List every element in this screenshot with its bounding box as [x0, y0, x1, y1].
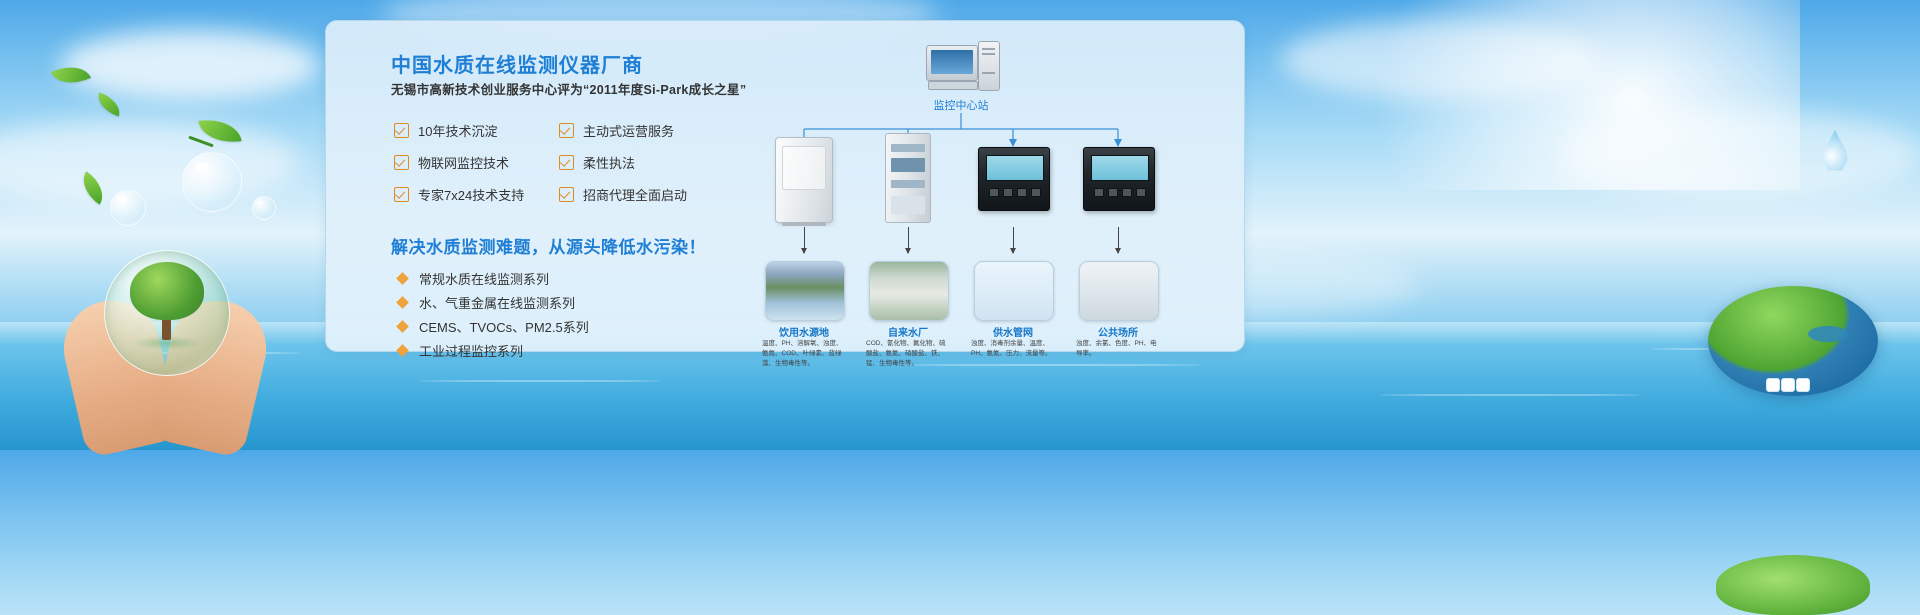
leaf-1	[51, 58, 91, 92]
checklist-item: 物联网监控技术	[394, 149, 524, 175]
scene-caption: 公共场所	[1073, 324, 1163, 339]
scene-photo-pipeline	[974, 261, 1054, 321]
list-item: 常规水质在线监测系列	[398, 266, 589, 290]
bubble-2	[110, 190, 146, 226]
scene-photo-public	[1079, 261, 1159, 321]
checkbox-checked-icon	[559, 187, 574, 202]
checklist-label: 10年技术沉淀	[418, 121, 497, 140]
checkbox-checked-icon	[394, 123, 409, 138]
device-controller-a	[976, 131, 1050, 223]
monitoring-center-label: 监控中心站	[901, 97, 1021, 113]
list-item: CEMS、TVOCs、PM2.5系列	[398, 314, 589, 338]
arrow-down-icon	[908, 227, 909, 253]
cabinet-icon	[775, 137, 833, 223]
cloud-2	[0, 120, 300, 205]
cloud-3	[1280, 20, 1600, 100]
leaf-2	[94, 92, 124, 116]
arrow-down-icon	[1118, 227, 1119, 253]
checklist-label: 柔性执法	[583, 153, 635, 172]
eco-globe	[1708, 266, 1878, 396]
bubble-1	[182, 152, 242, 212]
scene-caption: 饮用水源地	[759, 324, 849, 339]
scene-description: 温度、PH、溶解氧、浊度、氨氮、COD、叶绿素、蓝绿藻、生物毒性等。	[762, 339, 846, 369]
content-panel: 中国水质在线监测仪器厂商 无锡市高新技术创业服务中心评为“2011年度Si-Pa…	[325, 20, 1245, 352]
globe-grass-cap	[1716, 555, 1870, 615]
list-item-label: 常规水质在线监测系列	[419, 269, 549, 288]
diamond-bullet-icon	[396, 320, 409, 333]
list-item-label: 水、气重金属在线监测系列	[419, 293, 575, 312]
checkbox-checked-icon	[394, 155, 409, 170]
scene-caption: 供水管网	[968, 324, 1058, 339]
system-topology-diagram: 监控中心站	[756, 35, 1226, 345]
cloud-4	[1560, 110, 1920, 200]
page-subtitle: 无锡市高新技术创业服务中心评为“2011年度Si-Park成长之星”	[391, 79, 746, 98]
arrow-down-icon	[804, 227, 805, 253]
test-strips-icon	[1766, 378, 1824, 392]
page-title: 中国水质在线监测仪器厂商	[391, 49, 643, 78]
device-water-cabinet	[767, 131, 841, 223]
checklist-label: 主动式运营服务	[583, 121, 674, 140]
bubble-3	[252, 196, 276, 220]
controller-icon	[978, 147, 1050, 211]
arrow-down-icon	[1013, 227, 1014, 253]
checklist-item: 主动式运营服务	[559, 117, 687, 143]
checklist-label: 招商代理全面启动	[583, 185, 687, 204]
monitoring-center-computer-icon	[926, 45, 998, 91]
leaf-stem	[188, 136, 213, 148]
rack-icon	[885, 133, 931, 223]
list-item: 工业过程监控系列	[398, 338, 589, 362]
checkbox-checked-icon	[559, 123, 574, 138]
controller-icon	[1083, 147, 1155, 211]
device-analyzer-rack	[871, 131, 945, 223]
scene-description: 浊度、余氯、色度、PH、电导率。	[1076, 339, 1160, 359]
cloud-1	[60, 30, 320, 100]
scene-description: COD、氰化物、氟化物、硫酸盐、氨氮、硝酸盐、铁、锰、生物毒性等。	[866, 339, 950, 369]
checklist-item: 10年技术沉淀	[394, 117, 524, 143]
checklist-item: 专家7x24技术支持	[394, 181, 524, 207]
list-item-label: CEMS、TVOCs、PM2.5系列	[419, 317, 589, 336]
water-droplet-icon	[1820, 130, 1850, 172]
scene-photo-reservoir	[765, 261, 845, 321]
checkbox-checked-icon	[394, 187, 409, 202]
leaf-4	[75, 171, 111, 205]
list-item: 水、气重金属在线监测系列	[398, 290, 589, 314]
device-controller-b	[1081, 131, 1155, 223]
checklist-label: 专家7x24技术支持	[418, 185, 524, 204]
product-series-list: 常规水质在线监测系列 水、气重金属在线监测系列 CEMS、TVOCs、PM2.5…	[398, 266, 589, 362]
scene-description: 浊度、消毒剂余量、温度、PH、氨氮、压力、流量等。	[971, 339, 1055, 359]
diamond-bullet-icon	[396, 272, 409, 285]
section-heading: 解决水质监测难题，从源头降低水污染！	[391, 233, 706, 258]
checklist-item: 招商代理全面启动	[559, 181, 687, 207]
diamond-bullet-icon	[396, 344, 409, 357]
sun-glow	[1380, 0, 1800, 190]
list-item-label: 工业过程监控系列	[419, 341, 523, 360]
globe-lake	[1808, 326, 1848, 342]
diamond-bullet-icon	[396, 296, 409, 309]
scene-caption: 自来水厂	[863, 324, 953, 339]
checklist-label: 物联网监控技术	[418, 153, 509, 172]
checkbox-checked-icon	[559, 155, 574, 170]
checklist-item: 柔性执法	[559, 149, 687, 175]
tree-crown	[130, 262, 204, 320]
hands-holding-tree	[70, 250, 260, 450]
scene-photo-waterworks	[869, 261, 949, 321]
